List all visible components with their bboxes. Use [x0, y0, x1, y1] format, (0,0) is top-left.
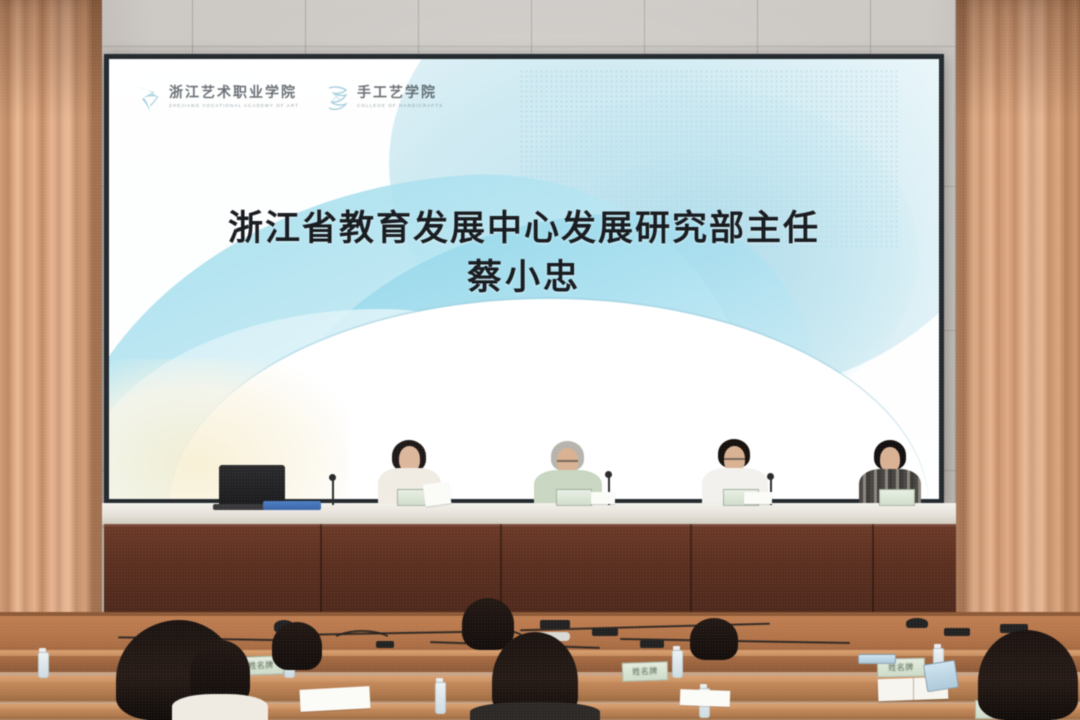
water-bottle[interactable] — [38, 652, 49, 678]
floor-monitor — [906, 618, 928, 628]
adapter-box — [944, 628, 970, 636]
panelist-glasses-icon — [724, 458, 745, 460]
audience-shoulders — [172, 694, 268, 720]
slide-title-line-1: 浙江省教育发展中心发展研究部主任 — [109, 207, 939, 251]
water-bottle-cap — [934, 644, 941, 648]
paper-document[interactable] — [299, 686, 370, 712]
microphone-head — [605, 471, 612, 478]
conference-hall-scene: 浙江艺术职业学院 ZHEJIANG VOCATIONAL ACADEMY OF … — [0, 0, 1080, 720]
water-bottle-cap — [39, 648, 46, 652]
panelist-nameplate — [879, 489, 915, 506]
slide-logo-row: 浙江艺术职业学院 ZHEJIANG VOCATIONAL ACADEMY OF … — [137, 83, 443, 113]
logo-name-en: ZHEJIANG VOCATIONAL ACADEMY OF ART — [169, 104, 299, 109]
audience-name-card-text: 姓名牌 — [248, 660, 274, 672]
adapter-box — [540, 620, 570, 629]
head-table-seam — [690, 524, 692, 616]
microphone-stem — [332, 478, 334, 505]
water-bottle-cap — [673, 646, 680, 650]
water-bottle[interactable] — [672, 650, 683, 678]
panelist-glasses-icon — [557, 460, 578, 462]
logo-zhejiang-academy: 浙江艺术职业学院 ZHEJIANG VOCATIONAL ACADEMY OF … — [137, 83, 299, 113]
tablet-device[interactable] — [923, 660, 959, 693]
logo-name-cn: 手工艺学院 — [357, 87, 443, 101]
paper-document[interactable] — [744, 492, 772, 504]
audience-hair — [462, 598, 514, 650]
water-bottle[interactable] — [435, 682, 446, 714]
audience-name-card: 姓名牌 — [622, 661, 669, 682]
head-table-front-panel — [104, 524, 960, 616]
head-table-seam — [320, 524, 322, 616]
slide-title-block: 浙江省教育发展中心发展研究部主任 蔡小忠 — [109, 207, 939, 305]
head-table-seam — [872, 524, 874, 616]
tablet-device[interactable] — [858, 654, 896, 664]
bird-logo-icon — [137, 83, 163, 113]
panelist-nameplate — [556, 489, 592, 506]
water-bottle-cap — [436, 678, 443, 682]
curtain-top-shading — [956, 0, 1080, 120]
open-book-spine — [913, 678, 914, 700]
projection-screen: 浙江艺术职业学院 ZHEJIANG VOCATIONAL ACADEMY OF … — [109, 59, 939, 499]
microphone-head — [767, 473, 774, 480]
paper-document[interactable] — [680, 689, 731, 707]
paper-document[interactable] — [591, 492, 615, 504]
audience-hair — [690, 618, 738, 660]
paper-document[interactable] — [423, 481, 452, 506]
logo-name-cn: 浙江艺术职业学院 — [169, 87, 299, 101]
audience-name-card-text: 姓名牌 — [632, 666, 658, 678]
adapter-box — [640, 640, 664, 648]
logo-text-block: 手工艺学院 COLLEGE OF HANDICRAFTS — [357, 87, 443, 109]
audience-shoulders — [470, 702, 600, 720]
logo-text-block: 浙江艺术职业学院 ZHEJIANG VOCATIONAL ACADEMY OF … — [169, 87, 299, 109]
slide-title-line-2: 蔡小忠 — [109, 251, 939, 305]
curtain-top-shading — [0, 0, 102, 120]
seal-logo-icon — [325, 83, 351, 113]
power-strip — [376, 641, 394, 648]
logo-name-en: COLLEGE OF HANDICRAFTS — [357, 104, 443, 109]
blue-folder[interactable] — [263, 501, 321, 510]
logo-college-handicrafts: 手工艺学院 COLLEGE OF HANDICRAFTS — [325, 83, 443, 113]
microphone-head — [329, 474, 336, 481]
adapter-box — [592, 628, 618, 636]
projection-screen-frame: 浙江艺术职业学院 ZHEJIANG VOCATIONAL ACADEMY OF … — [104, 54, 944, 504]
laptop[interactable] — [219, 465, 285, 505]
audience-hair — [272, 622, 322, 670]
water-bottle-cap — [700, 684, 707, 688]
